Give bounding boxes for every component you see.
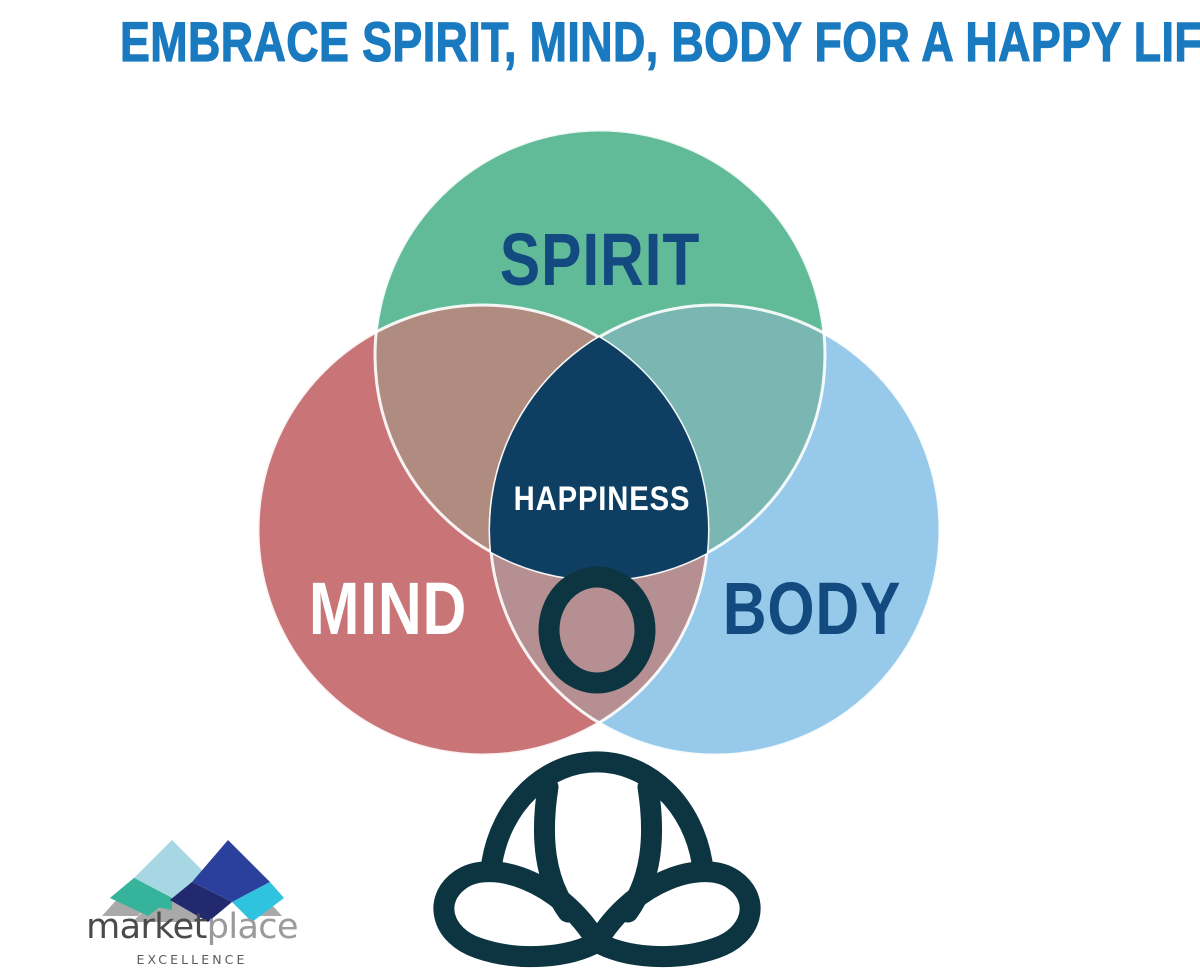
logo-tagline: EXCELLENCE (82, 952, 302, 967)
logo-word-place: place (207, 907, 298, 947)
infographic-poster: EMBRACE SPIRIT, MIND, BODY FOR A HAPPY L… (0, 0, 1200, 974)
brand-logo[interactable]: marketplace EXCELLENCE (82, 836, 302, 966)
figure-left-leg (444, 872, 597, 957)
figure-right-leg (597, 872, 750, 957)
figure-torso (492, 762, 702, 862)
logo-word-market: market (86, 907, 207, 947)
venn-svg: SPIRIT MIND BODY HAPPINESS (0, 0, 1200, 974)
venn-label-body: BODY (723, 568, 902, 650)
logo-wordmark: marketplace (82, 910, 302, 945)
venn-diagram: SPIRIT MIND BODY HAPPINESS (0, 0, 1200, 974)
venn-label-happiness: HAPPINESS (514, 479, 691, 518)
venn-label-mind: MIND (309, 568, 467, 650)
venn-label-spirit: SPIRIT (500, 219, 700, 301)
